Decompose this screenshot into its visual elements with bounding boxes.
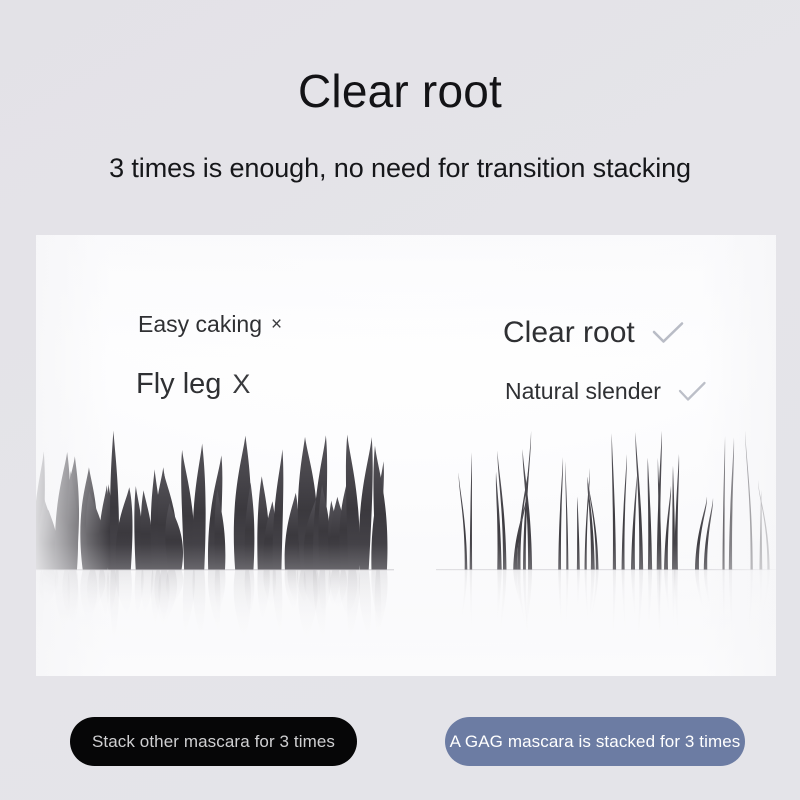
caption-pill-gag-mascara-label: A GAG mascara is stacked for 3 times [450, 732, 741, 752]
caption-pill-other-mascara[interactable]: Stack other mascara for 3 times [70, 717, 357, 766]
slender-lashes-image [436, 410, 776, 660]
label-clear-root: Clear root [503, 316, 685, 350]
check-icon [677, 380, 707, 404]
page-subtitle: 3 times is enough, no need for transitio… [0, 149, 800, 187]
label-natural-slender-text: Natural slender [505, 378, 661, 405]
promo-page: Clear root 3 times is enough, no need fo… [0, 0, 800, 800]
page-title: Clear root [0, 62, 800, 120]
clumpy-lashes-image [36, 410, 394, 660]
label-fly-leg-text: Fly leg [136, 368, 221, 401]
label-clear-root-text: Clear root [503, 316, 635, 350]
cross-mark-icon: × [271, 314, 282, 336]
label-easy-caking: Easy caking × [138, 311, 282, 338]
caption-pill-gag-mascara[interactable]: A GAG mascara is stacked for 3 times [445, 717, 745, 766]
comparison-panel [36, 235, 776, 676]
label-fly-leg: Fly leg X [136, 368, 250, 401]
cross-mark-large-icon: X [232, 369, 250, 400]
label-easy-caking-text: Easy caking [138, 311, 262, 338]
check-icon [651, 320, 685, 346]
label-natural-slender: Natural slender [505, 378, 707, 405]
caption-pill-other-mascara-label: Stack other mascara for 3 times [92, 732, 335, 752]
